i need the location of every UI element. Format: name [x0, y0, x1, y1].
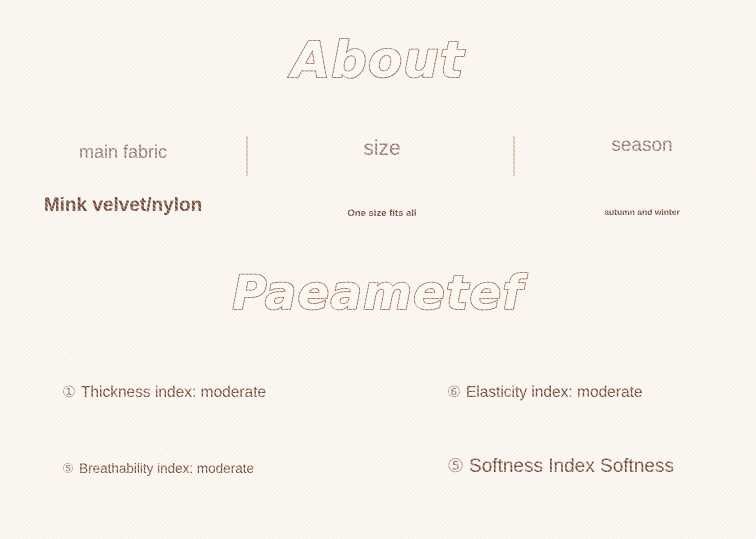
- spec-value-season: autumn and winter: [530, 158, 754, 219]
- spec-summary-row: main fabric Mink velvet/nylon size One s…: [0, 128, 756, 238]
- parameter-item-softness: ⑤ Softness Index Softness: [447, 455, 674, 478]
- parameter-item-breathability: ⑤ Breathability index: moderate: [62, 461, 254, 477]
- parameter-label-softness: Softness Index Softness: [469, 456, 674, 478]
- parameter-label-thickness: Thickness index: moderate: [81, 384, 266, 402]
- circled-number-icon: ⑤: [62, 461, 74, 477]
- parameter-list: ① Thickness index: moderate ⑥ Elasticity…: [0, 375, 756, 505]
- product-detail-page: About main fabric Mink velvet/nylon size…: [0, 0, 756, 539]
- parameter-heading: Paeametef: [0, 267, 756, 321]
- circled-number-icon: ⑤: [447, 455, 464, 478]
- spec-label-size: size: [262, 128, 502, 162]
- spec-value-size: One size fits all: [262, 162, 502, 221]
- spec-value-main-fabric: Mink velvet/nylon: [14, 164, 232, 218]
- about-heading: About: [0, 32, 756, 88]
- parameter-item-elasticity: ⑥ Elasticity index: moderate: [447, 383, 643, 402]
- spec-divider-1: [246, 136, 248, 176]
- parameter-item-thickness: ① Thickness index: moderate: [62, 383, 266, 402]
- spec-column-main-fabric: main fabric Mink velvet/nylon: [14, 128, 232, 218]
- spec-column-season: season autumn and winter: [530, 128, 754, 219]
- parameter-label-breathability: Breathability index: moderate: [79, 461, 254, 476]
- circled-number-icon: ⑥: [447, 383, 461, 402]
- spec-label-main-fabric: main fabric: [14, 128, 232, 164]
- parameter-label-elasticity: Elasticity index: moderate: [466, 384, 643, 402]
- spec-column-size: size One size fits all: [262, 128, 502, 221]
- spec-label-season: season: [530, 128, 754, 158]
- circled-number-icon: ①: [62, 383, 76, 402]
- spec-divider-2: [513, 136, 515, 176]
